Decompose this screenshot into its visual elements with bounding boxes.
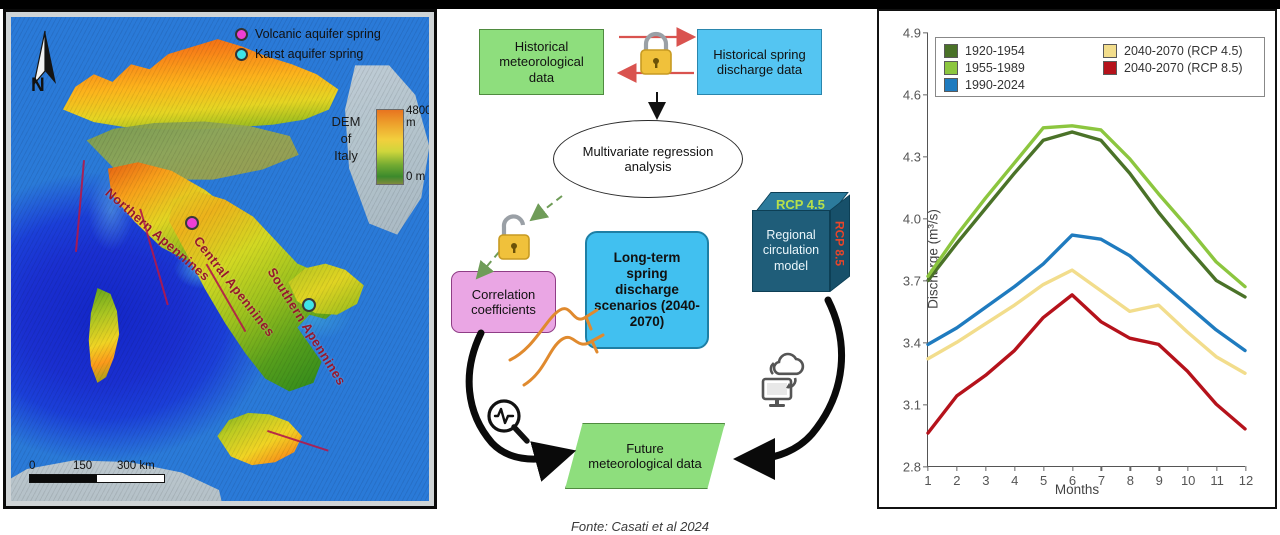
chart-y-tick-mark [923, 156, 928, 157]
scalebar-tick-0: 0 [29, 460, 35, 472]
chart-y-tick-label: 4.0 [903, 212, 921, 227]
chart-x-tick-label: 2 [953, 473, 960, 488]
scale-bar: 0 150 300 km [29, 460, 165, 483]
chart-x-tick-mark [1043, 466, 1044, 471]
chart-y-tick-mark [923, 342, 928, 343]
chart-x-tick-label: 11 [1210, 473, 1224, 488]
chart-legend-item[interactable]: 1955-1989 [944, 61, 1097, 75]
chart-legend-item[interactable]: 2040-2070 (RCP 4.5) [1103, 44, 1256, 58]
chart-series-line [928, 270, 1245, 373]
chart-x-tick-label: 8 [1127, 473, 1134, 488]
source-caption: Fonte: Casati et al 2024 [0, 519, 1280, 534]
cube-right-face-rcp85: RCP 8.5 [830, 194, 850, 292]
chart-x-tick-mark [956, 466, 957, 471]
chart-y-tick-label: 2.8 [903, 460, 921, 475]
chart-legend-swatch [944, 44, 958, 58]
cube-label-rcp85: RCP 8.5 [833, 221, 847, 266]
karst-spring-marker[interactable] [302, 298, 316, 312]
chart-legend-label: 1955-1989 [965, 61, 1025, 75]
chart-y-tick-mark [923, 94, 928, 95]
node-long-term-spring-discharge-scenarios: Long-term spring discharge scenarios (20… [585, 231, 709, 349]
chart-y-tick-label: 4.9 [903, 26, 921, 41]
legend-label-volcanic: Volcanic aquifer spring [255, 27, 381, 41]
chart-x-tick-label: 12 [1239, 473, 1253, 488]
dem-min-label: 0 m [406, 171, 425, 183]
chart-legend-label: 2040-2070 (RCP 4.5) [1124, 44, 1243, 58]
chart-x-tick-mark [1245, 466, 1246, 471]
chart-y-tick-mark [923, 280, 928, 281]
chart-legend-item[interactable]: 1920-1954 [944, 44, 1097, 58]
chart-y-tick-label: 4.6 [903, 88, 921, 103]
chart-y-tick-label: 4.3 [903, 150, 921, 165]
legend-label-karst: Karst aquifer spring [255, 47, 363, 61]
chart-plot-area: 4.94.64.34.03.73.43.12.8123456789101112 [927, 33, 1245, 467]
chart-legend-swatch [944, 61, 958, 75]
map-panel: N Volcanic aquifer spring Karst aquifer … [3, 9, 437, 509]
chart-series-line [928, 132, 1245, 297]
chart-x-tick-mark [1130, 466, 1131, 471]
chart-x-tick-label: 3 [982, 473, 989, 488]
chart-y-tick-mark [923, 404, 928, 405]
chart-x-tick-label: 10 [1181, 473, 1195, 488]
chart-legend-item[interactable]: 1990-2024 [944, 78, 1097, 92]
legend-item-volcanic: Volcanic aquifer spring [235, 27, 419, 41]
chart-x-tick-label: 1 [924, 473, 931, 488]
legend-item-karst: Karst aquifer spring [235, 47, 419, 61]
chart-legend-item[interactable]: 2040-2070 (RCP 8.5) [1103, 61, 1256, 75]
figure-root: N Volcanic aquifer spring Karst aquifer … [0, 0, 1280, 535]
chart-y-tick-label: 3.1 [903, 398, 921, 413]
node-label: Long-term spring discharge scenarios (20… [594, 250, 700, 330]
chart-x-tick-mark [1216, 466, 1217, 471]
chart-legend-swatch [1103, 44, 1117, 58]
node-label: Correlation coefficients [457, 287, 550, 318]
chart-legend-swatch [1103, 61, 1117, 75]
chart-x-tick-mark [1072, 466, 1073, 471]
dem-legend-title: DEM of Italy [318, 113, 374, 164]
circle-marker-icon [235, 28, 248, 41]
node-label: Future meteorological data [584, 441, 706, 472]
scalebar-segment-filled [30, 475, 97, 482]
chart-series-layer [928, 33, 1245, 466]
chart-x-tick-mark [1159, 466, 1160, 471]
chart-x-tick-mark [927, 466, 928, 471]
chart-x-tick-mark [985, 466, 986, 471]
cube-front-face: Regional circulation model [752, 210, 830, 292]
node-label: Multivariate regression analysis [568, 144, 728, 175]
chart-legend-label: 1990-2024 [965, 78, 1025, 92]
cube-label-rcm: Regional circulation model [753, 228, 829, 275]
chart-legend-label: 2040-2070 (RCP 8.5) [1124, 61, 1243, 75]
chart-x-tick-mark [1014, 466, 1015, 471]
north-label: N [31, 75, 45, 97]
chart-legend-swatch [944, 78, 958, 92]
node-future-meteorological-data: Future meteorological data [565, 423, 725, 489]
node-correlation-coefficients: Correlation coefficients [451, 271, 556, 333]
chart-legend-label: 1920-1954 [965, 44, 1025, 58]
node-historical-spring-discharge-data: Historical spring discharge data [697, 29, 822, 95]
chart-x-tick-mark [1188, 466, 1189, 471]
scalebar-tick-300: 300 km [117, 460, 155, 472]
dem-max-label: 4800 m [406, 105, 429, 129]
chart-x-tick-label: 9 [1156, 473, 1163, 488]
node-label: Historical meteorological data [486, 39, 597, 85]
node-historical-meteorological-data: Historical meteorological data [479, 29, 604, 95]
map-canvas: N Volcanic aquifer spring Karst aquifer … [11, 17, 429, 501]
chart-series-line [928, 126, 1245, 287]
chart-legend: 1920-19542040-2070 (RCP 4.5)1955-1989204… [935, 37, 1265, 97]
dem-color-ramp [376, 109, 404, 185]
chart-x-tick-label: 5 [1040, 473, 1047, 488]
dem-legend: DEM of Italy 4800 m 0 m [318, 105, 429, 187]
chart-x-tick-label: 6 [1069, 473, 1076, 488]
chart-x-tick-label: 7 [1098, 473, 1105, 488]
chart-y-tick-label: 3.7 [903, 274, 921, 289]
scalebar-segment-empty [97, 475, 164, 482]
chart-y-tick-mark [923, 218, 928, 219]
chart-panel: Discharge (m³/s) Months 4.94.64.34.03.73… [877, 9, 1277, 509]
chart-x-tick-mark [1101, 466, 1102, 471]
circle-marker-icon [235, 48, 248, 61]
chart-x-tick-label: 4 [1011, 473, 1018, 488]
scalebar-tick-150: 150 [73, 460, 92, 472]
map-legend: Volcanic aquifer spring Karst aquifer sp… [235, 27, 419, 67]
node-multivariate-regression-analysis: Multivariate regression analysis [553, 120, 743, 198]
top-border-bar [0, 0, 1280, 9]
chart-y-tick-label: 3.4 [903, 336, 921, 351]
node-regional-circulation-model-cube: RCP 4.5 RCP 8.5 Regional circulation mod… [752, 192, 852, 297]
chart-y-tick-mark [923, 32, 928, 33]
volcanic-spring-marker[interactable] [185, 216, 199, 230]
node-label: Historical spring discharge data [704, 47, 815, 78]
chart-series-line [928, 235, 1245, 350]
